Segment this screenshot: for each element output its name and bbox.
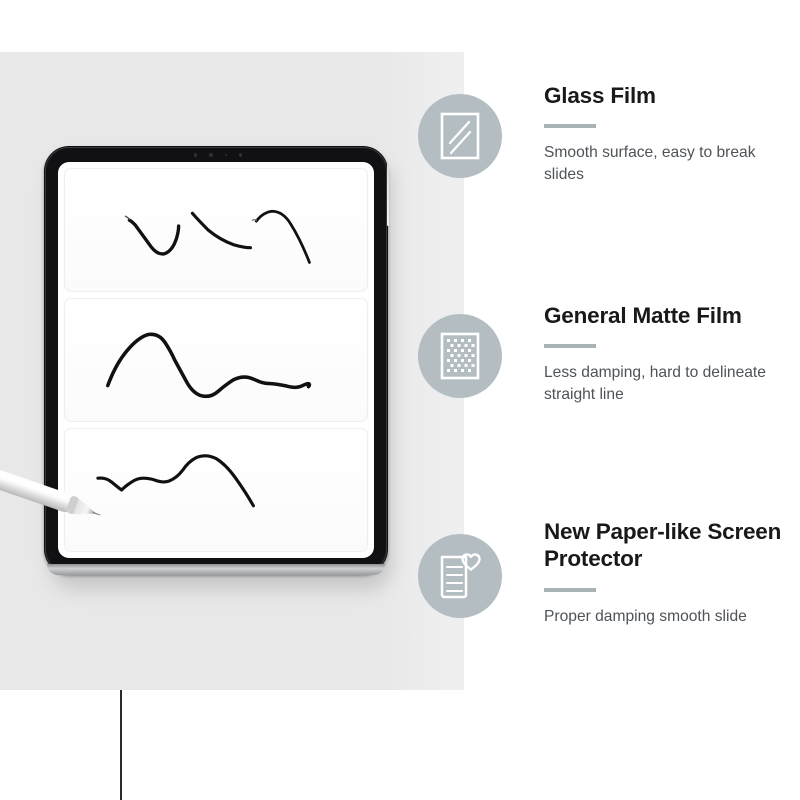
feature-icon-circle: [418, 314, 502, 398]
feature-item-paper-like-protector: New Paper-like Screen Protector Proper d…: [418, 522, 788, 702]
feature-text-block: New Paper-like Screen Protector Proper d…: [544, 518, 794, 628]
glass-film-icon: [437, 110, 483, 162]
feature-icon-circle: [418, 534, 502, 618]
feature-title: Glass Film: [544, 82, 794, 109]
feature-icon-circle: [418, 94, 502, 178]
feature-description: Smooth surface, easy to break slides: [544, 142, 794, 186]
feature-divider: [544, 344, 596, 348]
feature-description: Proper damping smooth slide: [544, 606, 794, 628]
feature-divider: [544, 124, 596, 128]
feature-text-block: General Matte Film Less damping, hard to…: [544, 302, 794, 406]
feature-divider: [544, 588, 596, 592]
feature-item-glass-film: Glass Film Smooth surface, easy to break…: [418, 82, 788, 262]
feature-title: General Matte Film: [544, 302, 794, 329]
paper-like-protector-icon: [435, 550, 485, 602]
feature-description: Less damping, hard to delineate straight…: [544, 362, 794, 406]
feature-text-block: Glass Film Smooth surface, easy to break…: [544, 82, 794, 186]
feature-list: Glass Film Smooth surface, easy to break…: [0, 0, 800, 800]
feature-title: New Paper-like Screen Protector: [544, 518, 794, 572]
feature-item-matte-film: General Matte Film Less damping, hard to…: [418, 302, 788, 482]
matte-film-icon: [437, 330, 483, 382]
